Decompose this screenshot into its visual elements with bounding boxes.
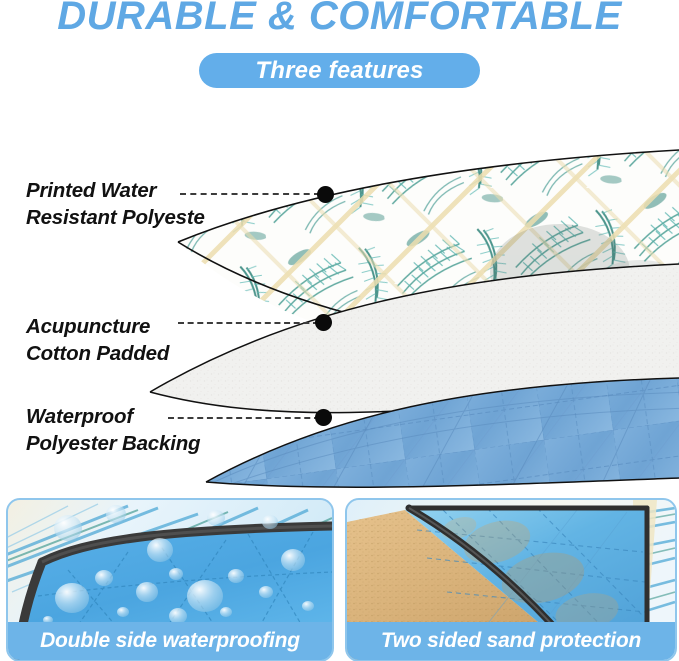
callout-dot-2: [315, 314, 332, 331]
panel-left-caption-text: Double side waterproofing: [40, 629, 300, 653]
callout-label-waterproof-backing: Waterproof Polyester Backing: [26, 404, 200, 457]
panel-two-sided-sand-protection: Two sided sand protection: [345, 498, 677, 661]
callout-1-line1: Printed Water: [26, 178, 205, 205]
infographic-canvas: DURABLE & COMFORTABLE Three features: [0, 0, 679, 661]
panel-right-caption-text: Two sided sand protection: [381, 629, 641, 653]
leader-line-2: [178, 322, 319, 326]
callout-3-line2: Polyester Backing: [26, 431, 200, 458]
panel-right-caption: Two sided sand protection: [347, 622, 675, 660]
callout-1-line2: Resistant Polyeste: [26, 205, 205, 232]
callout-dot-1: [317, 186, 334, 203]
page-title: DURABLE & COMFORTABLE: [0, 0, 679, 39]
leader-line-3: [168, 417, 320, 421]
callout-2-line1: Acupuncture: [26, 314, 169, 341]
leader-line-1: [180, 193, 320, 197]
callout-2-line2: Cotton Padded: [26, 341, 169, 368]
panel-left-caption: Double side waterproofing: [8, 622, 332, 660]
panel-double-side-waterproofing: Double side waterproofing: [6, 498, 334, 661]
callout-dot-3: [315, 409, 332, 426]
callout-label-printed-polyester: Printed Water Resistant Polyeste: [26, 178, 205, 231]
callout-label-cotton-padding: Acupuncture Cotton Padded: [26, 314, 169, 367]
feature-panels: Double side waterproofing: [0, 498, 679, 661]
badge-label: Three features: [255, 57, 423, 85]
three-features-badge: Three features: [199, 53, 480, 88]
